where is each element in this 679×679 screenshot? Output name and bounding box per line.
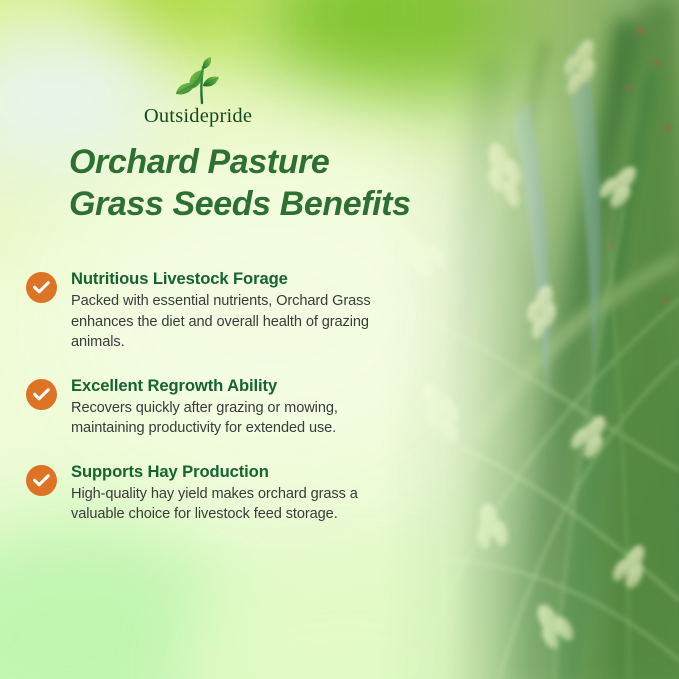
benefit-heading: Excellent Regrowth Ability bbox=[71, 375, 406, 396]
page-title-line-1: Orchard Pasture bbox=[69, 141, 469, 183]
photo-fade-overlay bbox=[379, 0, 679, 679]
infographic-canvas: Outsidepride Orchard Pasture Grass Seeds… bbox=[0, 0, 679, 679]
page-title-line-2: Grass Seeds Benefits bbox=[69, 183, 469, 225]
benefit-item: Excellent Regrowth Ability Recovers quic… bbox=[26, 375, 406, 439]
leaf-sprig-icon bbox=[162, 55, 234, 107]
checkmark-glyph bbox=[33, 281, 50, 294]
orchard-grass-photo bbox=[379, 0, 679, 679]
benefit-heading: Nutritious Livestock Forage bbox=[71, 268, 406, 289]
benefit-body: Packed with essential nutrients, Orchard… bbox=[71, 291, 406, 353]
benefits-list: Nutritious Livestock Forage Packed with … bbox=[26, 268, 406, 547]
check-circle-icon bbox=[26, 465, 57, 496]
benefit-body: Recovers quickly after grazing or mowing… bbox=[71, 398, 406, 439]
checkmark-glyph bbox=[33, 388, 50, 401]
checkmark-glyph bbox=[33, 474, 50, 487]
check-circle-icon bbox=[26, 272, 57, 303]
brand-name: Outsidepride bbox=[128, 105, 268, 128]
benefit-item: Supports Hay Production High-quality hay… bbox=[26, 461, 406, 525]
page-title: Orchard Pasture Grass Seeds Benefits bbox=[69, 141, 469, 225]
check-circle-icon bbox=[26, 379, 57, 410]
benefit-body: High-quality hay yield makes orchard gra… bbox=[71, 484, 406, 525]
brand-logo: Outsidepride bbox=[128, 55, 268, 128]
benefit-item: Nutritious Livestock Forage Packed with … bbox=[26, 268, 406, 353]
benefit-heading: Supports Hay Production bbox=[71, 461, 406, 482]
